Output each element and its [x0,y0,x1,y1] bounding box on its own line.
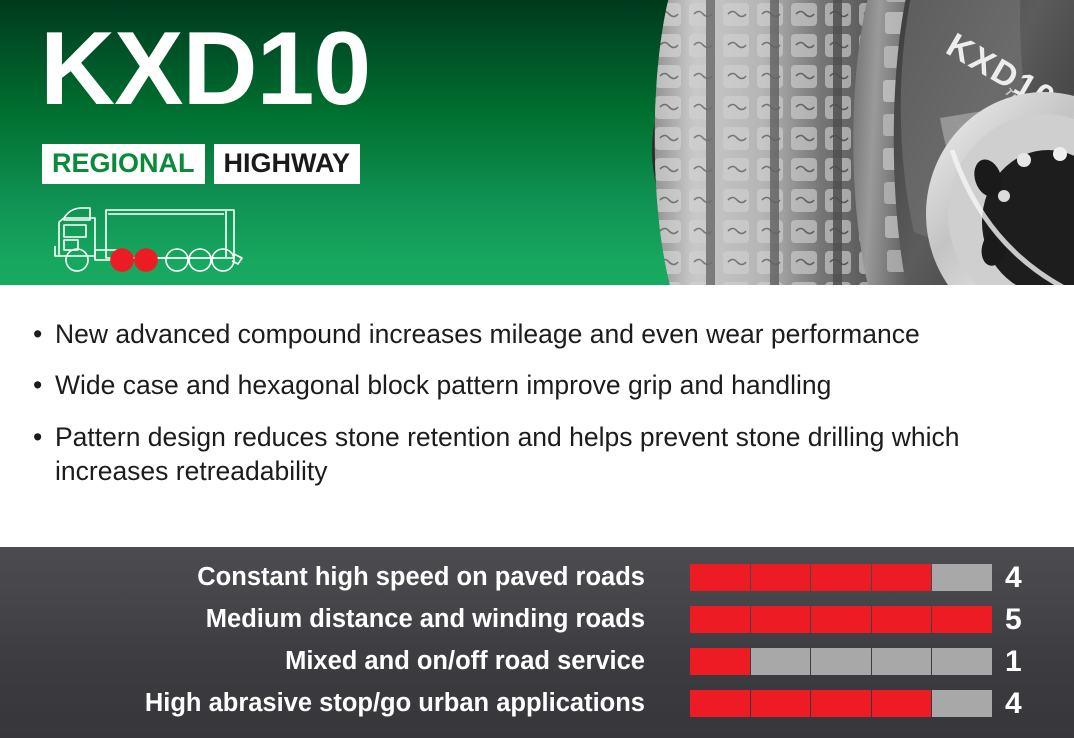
rating-bar [690,648,992,675]
list-item: Wide case and hexagonal block pattern im… [0,368,1074,402]
page-title: KXD10 [40,10,370,130]
feature-list: New advanced compound increases mileage … [0,285,1074,547]
truck-tire-photo: KXD10 TUBELESS RADIAL 315/80R22.5 [652,0,1074,285]
badge-regional[interactable]: REGIONAL [42,144,205,184]
rating-segment [872,648,932,675]
rating-segment [751,564,811,591]
rating-segment [751,690,811,717]
badge-highway[interactable]: HIGHWAY [214,144,361,184]
rating-bar [690,606,992,633]
rating-segment [872,690,932,717]
rating-segment [690,564,750,591]
truck-trailer-icon [50,198,270,283]
rating-segment [811,648,871,675]
rating-row: Constant high speed on paved roads 4 [0,557,1074,598]
header-banner: KXD10 REGIONAL HIGHWAY [0,0,1074,285]
rating-row: High abrasive stop/go urban applications… [0,683,1074,724]
rating-segment [932,690,992,717]
rating-segment [811,690,871,717]
rating-segment [690,690,750,717]
rating-row: Mixed and on/off road service 1 [0,641,1074,682]
rating-segment [872,564,932,591]
product-spec-sheet: KXD10 REGIONAL HIGHWAY [0,0,1074,738]
rating-label: High abrasive stop/go urban applications [0,691,645,717]
rating-segment [932,648,992,675]
rating-label: Mixed and on/off road service [0,649,645,675]
rating-value: 1 [1005,647,1035,677]
list-item: New advanced compound increases mileage … [0,317,1074,351]
category-badges: REGIONAL HIGHWAY [42,144,360,184]
rating-value: 4 [1005,563,1035,593]
rating-label: Constant high speed on paved roads [0,565,645,591]
rating-bar [690,564,992,591]
rating-segment [811,606,871,633]
rating-segment [932,564,992,591]
rating-segment [690,648,750,675]
rating-segment [932,606,992,633]
rating-bar [690,690,992,717]
rating-segment [751,648,811,675]
rating-row: Medium distance and winding roads 5 [0,599,1074,640]
rating-segment [690,606,750,633]
rating-value: 4 [1005,689,1035,719]
rating-segment [751,606,811,633]
rating-value: 5 [1005,605,1035,635]
application-ratings: Constant high speed on paved roads 4 Med… [0,547,1074,738]
rating-label: Medium distance and winding roads [0,607,645,633]
rating-segment [811,564,871,591]
rating-segment [872,606,932,633]
list-item: Pattern design reduces stone retention a… [0,420,1074,489]
